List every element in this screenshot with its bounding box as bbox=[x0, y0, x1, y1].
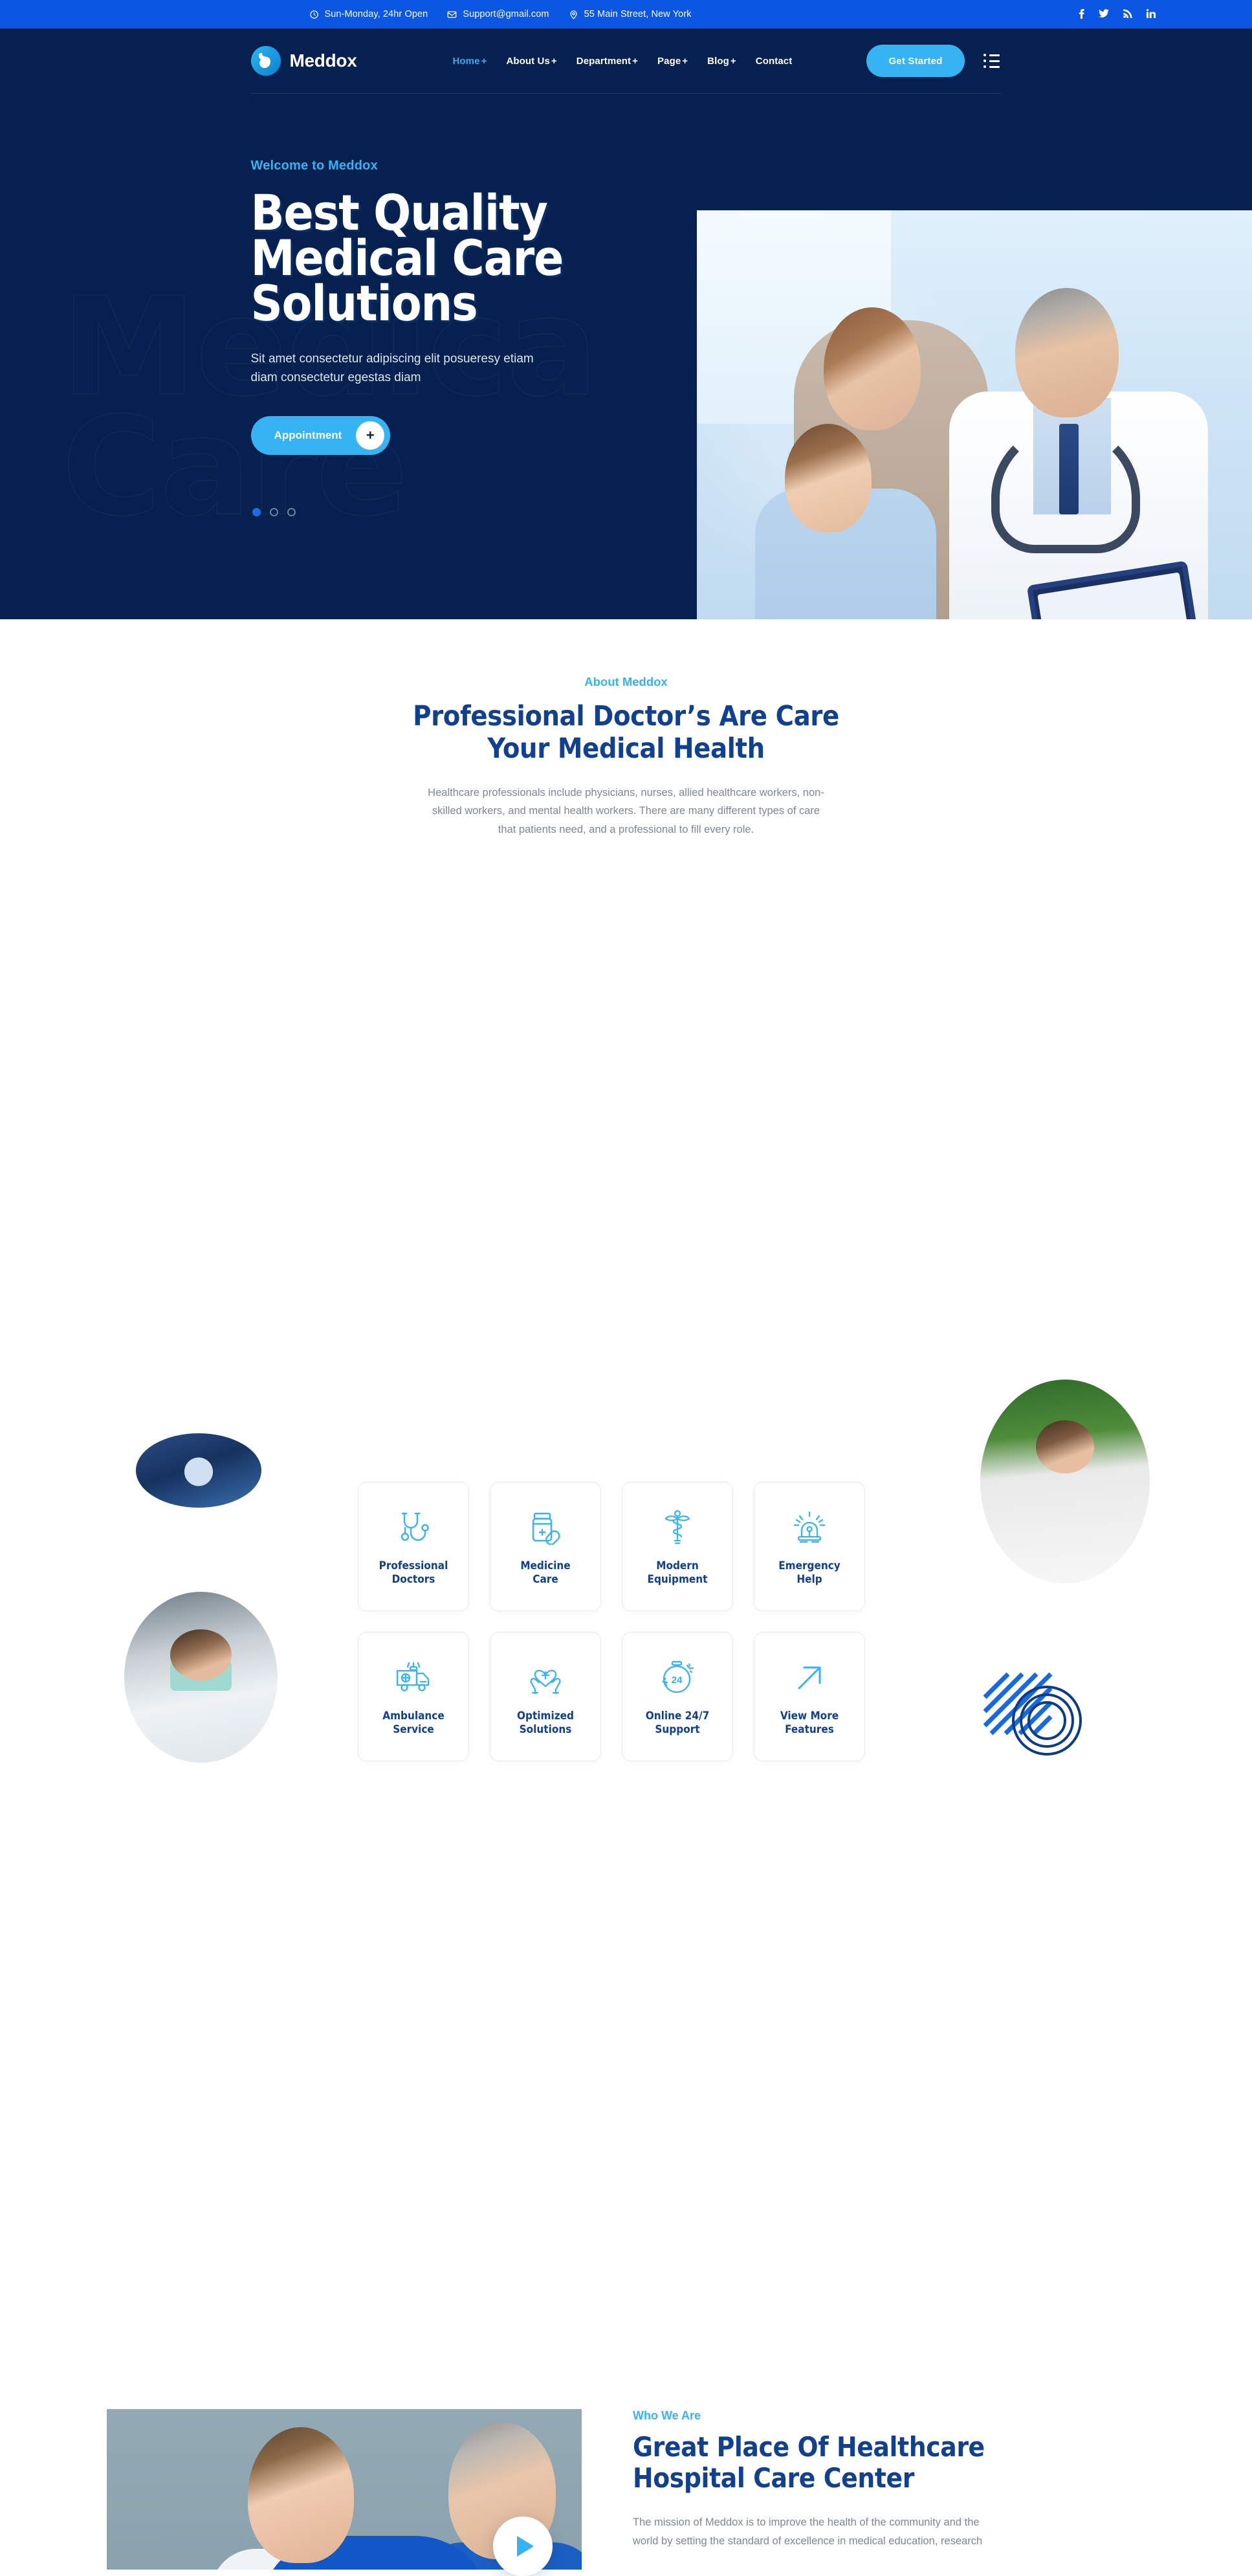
who-title-line-1: Great Place Of Healthcare bbox=[633, 2431, 985, 2463]
envelope-icon bbox=[447, 10, 457, 19]
nav-item-blog[interactable]: Blog+ bbox=[707, 56, 736, 67]
feature-card-label: AmbulanceService bbox=[382, 1710, 445, 1737]
feature-card-professional-doctors[interactable]: ProfessionalDoctors bbox=[358, 1482, 469, 1611]
hero-title: Best Quality Medical Care Solutions bbox=[251, 190, 639, 326]
decorative-spiral-graphic bbox=[977, 1668, 1087, 1758]
nav-item-home[interactable]: Home+ bbox=[452, 56, 487, 67]
svg-text:24: 24 bbox=[672, 1675, 683, 1686]
who-eyebrow: Who We Are bbox=[633, 2409, 995, 2423]
location-pin-icon bbox=[569, 10, 578, 19]
about-section: About Meddox Professional Doctor’s Are C… bbox=[0, 619, 1252, 1189]
feature-card-modern-equipment[interactable]: ModernEquipment bbox=[622, 1482, 733, 1611]
arrow-up-right-icon bbox=[793, 1657, 826, 1699]
stethoscope-icon bbox=[397, 1506, 430, 1549]
topbar-hours-text: Sun-Monday, 24hr Open bbox=[325, 9, 428, 19]
feature-card-label: ModernEquipment bbox=[648, 1559, 708, 1587]
slider-dot-2[interactable] bbox=[270, 508, 278, 516]
nav-label-about-us: About Us bbox=[506, 56, 549, 67]
feature-card-label: OptimizedSolutions bbox=[517, 1710, 574, 1737]
social-links bbox=[1079, 8, 1156, 20]
feature-card-optimized-solutions[interactable]: OptimizedSolutions bbox=[490, 1632, 601, 1761]
topbar-address-text: 55 Main Street, New York bbox=[584, 9, 692, 19]
get-started-button[interactable]: Get Started bbox=[866, 45, 964, 77]
slider-dot-3[interactable] bbox=[287, 508, 296, 516]
caduceus-icon bbox=[661, 1506, 694, 1549]
nav-item-contact[interactable]: Contact bbox=[756, 56, 793, 67]
about-eyebrow: About Meddox bbox=[0, 675, 1252, 689]
brand-name: Meddox bbox=[290, 50, 357, 71]
nav-caret-home: + bbox=[481, 56, 487, 67]
nav-label-department: Department bbox=[577, 56, 631, 67]
topbar-email-text: Support@gmail.com bbox=[463, 9, 549, 19]
play-video-button[interactable] bbox=[493, 2516, 553, 2576]
nav-label-contact: Contact bbox=[756, 56, 793, 67]
who-description: The mission of Meddox is to improve the … bbox=[633, 2513, 985, 2551]
surgery-team-photo bbox=[136, 1433, 261, 1508]
topbar-address: 55 Main Street, New York bbox=[569, 9, 692, 19]
ambulance-icon bbox=[395, 1657, 432, 1699]
hero-subtitle: Sit amet consectetur adipiscing elit pos… bbox=[251, 349, 536, 388]
feature-card-view-more[interactable]: View MoreFeatures bbox=[754, 1632, 865, 1761]
feature-card-label: EmergencyHelp bbox=[778, 1559, 840, 1587]
twitter-icon[interactable] bbox=[1099, 9, 1109, 19]
hero-eyebrow: Welcome to Meddox bbox=[251, 159, 639, 173]
rss-icon[interactable] bbox=[1123, 9, 1132, 19]
who-title: Great Place Of Healthcare Hospital Care … bbox=[633, 2432, 995, 2494]
feature-card-label: View MoreFeatures bbox=[780, 1710, 839, 1737]
page-root: Sun-Monday, 24hr Open Support@gmail.com … bbox=[0, 0, 1252, 1372]
site-header: Meddox Home+ About Us+ Department+ Page+… bbox=[0, 28, 1252, 94]
slider-dot-1[interactable] bbox=[252, 508, 261, 516]
hero-section: Medica Care Welcome to Meddox Best Quali… bbox=[0, 94, 1252, 619]
top-info-bar: Sun-Monday, 24hr Open Support@gmail.com … bbox=[0, 0, 1252, 28]
masked-doctor-photo bbox=[124, 1592, 278, 1763]
hero-slider-dots bbox=[252, 508, 296, 516]
female-doctor-photo bbox=[980, 1380, 1150, 1583]
clock-icon bbox=[309, 10, 319, 19]
meddox-logo-icon bbox=[251, 46, 281, 76]
nav-label-blog: Blog bbox=[707, 56, 729, 67]
medicine-bottle-icon bbox=[528, 1506, 563, 1549]
hero-image-doctor-family bbox=[697, 210, 1252, 619]
about-title-line-1: Professional Doctor’s Are Care bbox=[413, 700, 839, 732]
hero-title-line-3: Solutions bbox=[251, 274, 478, 332]
nav-caret-department: + bbox=[632, 56, 638, 67]
appointment-button[interactable]: Appointment + bbox=[251, 416, 391, 455]
nav-caret-about-us: + bbox=[551, 56, 557, 67]
feature-card-online-support[interactable]: 24 Online 24/7Support bbox=[622, 1632, 733, 1761]
who-title-line-2: Hospital Care Center bbox=[633, 2462, 914, 2494]
linkedin-icon[interactable] bbox=[1147, 9, 1156, 19]
topbar-email[interactable]: Support@gmail.com bbox=[447, 9, 549, 19]
topbar-hours: Sun-Monday, 24hr Open bbox=[309, 9, 428, 19]
feature-card-ambulance-service[interactable]: AmbulanceService bbox=[358, 1632, 469, 1761]
about-title: Professional Doctor’s Are Care Your Medi… bbox=[0, 701, 1252, 765]
nav-caret-page: + bbox=[682, 56, 688, 67]
stopwatch-24-icon: 24 bbox=[660, 1657, 695, 1699]
feature-cards-grid: ProfessionalDoctors MedicineCare bbox=[358, 1482, 830, 1761]
nav-item-page[interactable]: Page+ bbox=[657, 56, 688, 67]
about-title-line-2: Your Medical Health bbox=[487, 732, 765, 765]
play-icon bbox=[517, 2536, 534, 2557]
feature-card-label: ProfessionalDoctors bbox=[379, 1559, 448, 1587]
feature-card-emergency-help[interactable]: EmergencyHelp bbox=[754, 1482, 865, 1611]
menu-list-icon[interactable] bbox=[982, 52, 1002, 70]
nav-label-home: Home bbox=[452, 56, 479, 67]
feature-card-label: MedicineCare bbox=[520, 1559, 570, 1587]
main-nav: Home+ About Us+ Department+ Page+ Blog+ … bbox=[452, 56, 792, 67]
facebook-icon[interactable] bbox=[1079, 8, 1084, 20]
nav-caret-blog: + bbox=[730, 56, 736, 67]
plus-icon: + bbox=[356, 421, 384, 450]
nav-item-department[interactable]: Department+ bbox=[577, 56, 638, 67]
about-description: Healthcare professionals include physici… bbox=[426, 784, 827, 839]
nav-label-page: Page bbox=[657, 56, 681, 67]
brand-logo[interactable]: Meddox bbox=[251, 46, 357, 76]
heart-hands-icon bbox=[527, 1657, 564, 1699]
nav-item-about-us[interactable]: About Us+ bbox=[506, 56, 556, 67]
feature-card-label: Online 24/7Support bbox=[646, 1710, 709, 1737]
appointment-button-label: Appointment bbox=[274, 429, 342, 442]
feature-card-medicine-care[interactable]: MedicineCare bbox=[490, 1482, 601, 1611]
siren-light-icon bbox=[792, 1506, 827, 1549]
